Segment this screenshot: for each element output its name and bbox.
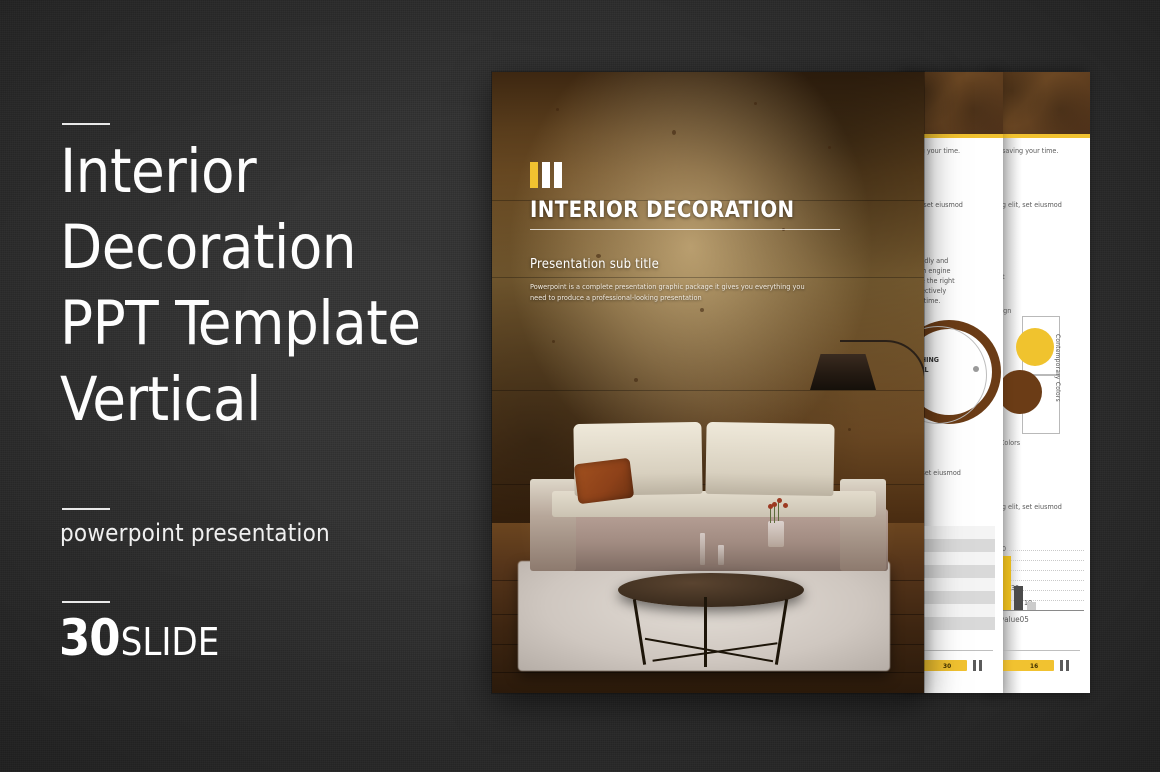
left-info-panel: Interior Decoration PPT Template Vertica… (0, 0, 470, 772)
table-row (913, 539, 995, 552)
subtitle-text: powerpoint presentation (60, 519, 330, 547)
glass-short (718, 545, 724, 565)
title-line-4: Vertical (60, 362, 480, 438)
table-leg (704, 597, 707, 667)
flower (768, 504, 773, 509)
slide-count-label: SLIDE (121, 620, 220, 664)
flower (777, 498, 782, 503)
slide3-text-2: ing elit, set eiusmod (996, 200, 1062, 209)
slide-main-title: INTERIOR DECORATION (530, 198, 840, 223)
swatch-dot-brown (998, 370, 1042, 414)
coffee-table-top (618, 573, 804, 607)
slide3-page-number: 16 (1030, 662, 1038, 670)
mini-bar-chart: 80 30 10 value05 (998, 544, 1084, 622)
page-title: Interior Decoration PPT Template Vertica… (60, 134, 480, 438)
slide3-photo-header (992, 72, 1090, 134)
slide-count-number: 30 (59, 609, 120, 667)
sofa-cushion-right (705, 422, 834, 496)
slide-body-text: Powerpoint is a complete presentation gr… (530, 281, 820, 303)
table-row (913, 526, 995, 539)
chart-bar-1 (1002, 556, 1011, 610)
swatch-dot-yellow (1016, 328, 1054, 366)
chart-bar-3 (1027, 602, 1036, 610)
slide3-page-badge (998, 660, 1054, 671)
slide-sub-title: Presentation sub title (530, 257, 840, 272)
slide2-page-number: 30 (943, 662, 951, 670)
lamp-shade-icon (810, 354, 876, 390)
slidecount-divider-line (62, 601, 110, 603)
bar-mark-icon (530, 162, 840, 188)
chart-bar-2 (1014, 586, 1023, 610)
chart-x-label: value05 (1000, 615, 1029, 624)
flower-vase (768, 521, 784, 547)
table-row (913, 565, 995, 578)
subtitle-divider-line (62, 508, 110, 510)
flower (783, 503, 788, 508)
table-row (913, 617, 995, 630)
contemporary-colors-label: Contemporary Colors (1054, 334, 1062, 402)
sofa-base (540, 509, 888, 571)
slide-count: 30SLIDE (59, 609, 219, 667)
table-row (913, 604, 995, 617)
title-line-2: Decoration (60, 210, 480, 286)
slide3-text-1: saving your time. (1002, 146, 1058, 155)
glass-tall (700, 533, 705, 565)
table-row (913, 552, 995, 565)
slide3-body: saving your time. ing elit, set eiusmod … (992, 138, 1090, 693)
slide-title-block: INTERIOR DECORATION Presentation sub tit… (530, 162, 840, 303)
table-row (913, 591, 995, 604)
main-slide[interactable]: INTERIOR DECORATION Presentation sub tit… (492, 72, 924, 693)
slide3-text-6: ing elit, set eiusmod (996, 502, 1062, 511)
title-line-1: Interior (60, 134, 480, 210)
accent-pillow (574, 458, 634, 505)
title-line-3: PPT Template (60, 286, 480, 362)
title-divider-line (62, 123, 110, 125)
slide-title-underline (530, 229, 840, 230)
ring-end-dot (973, 366, 979, 372)
preview-slide-3[interactable]: saving your time. ing elit, set eiusmod … (992, 72, 1090, 693)
table-row (913, 578, 995, 591)
